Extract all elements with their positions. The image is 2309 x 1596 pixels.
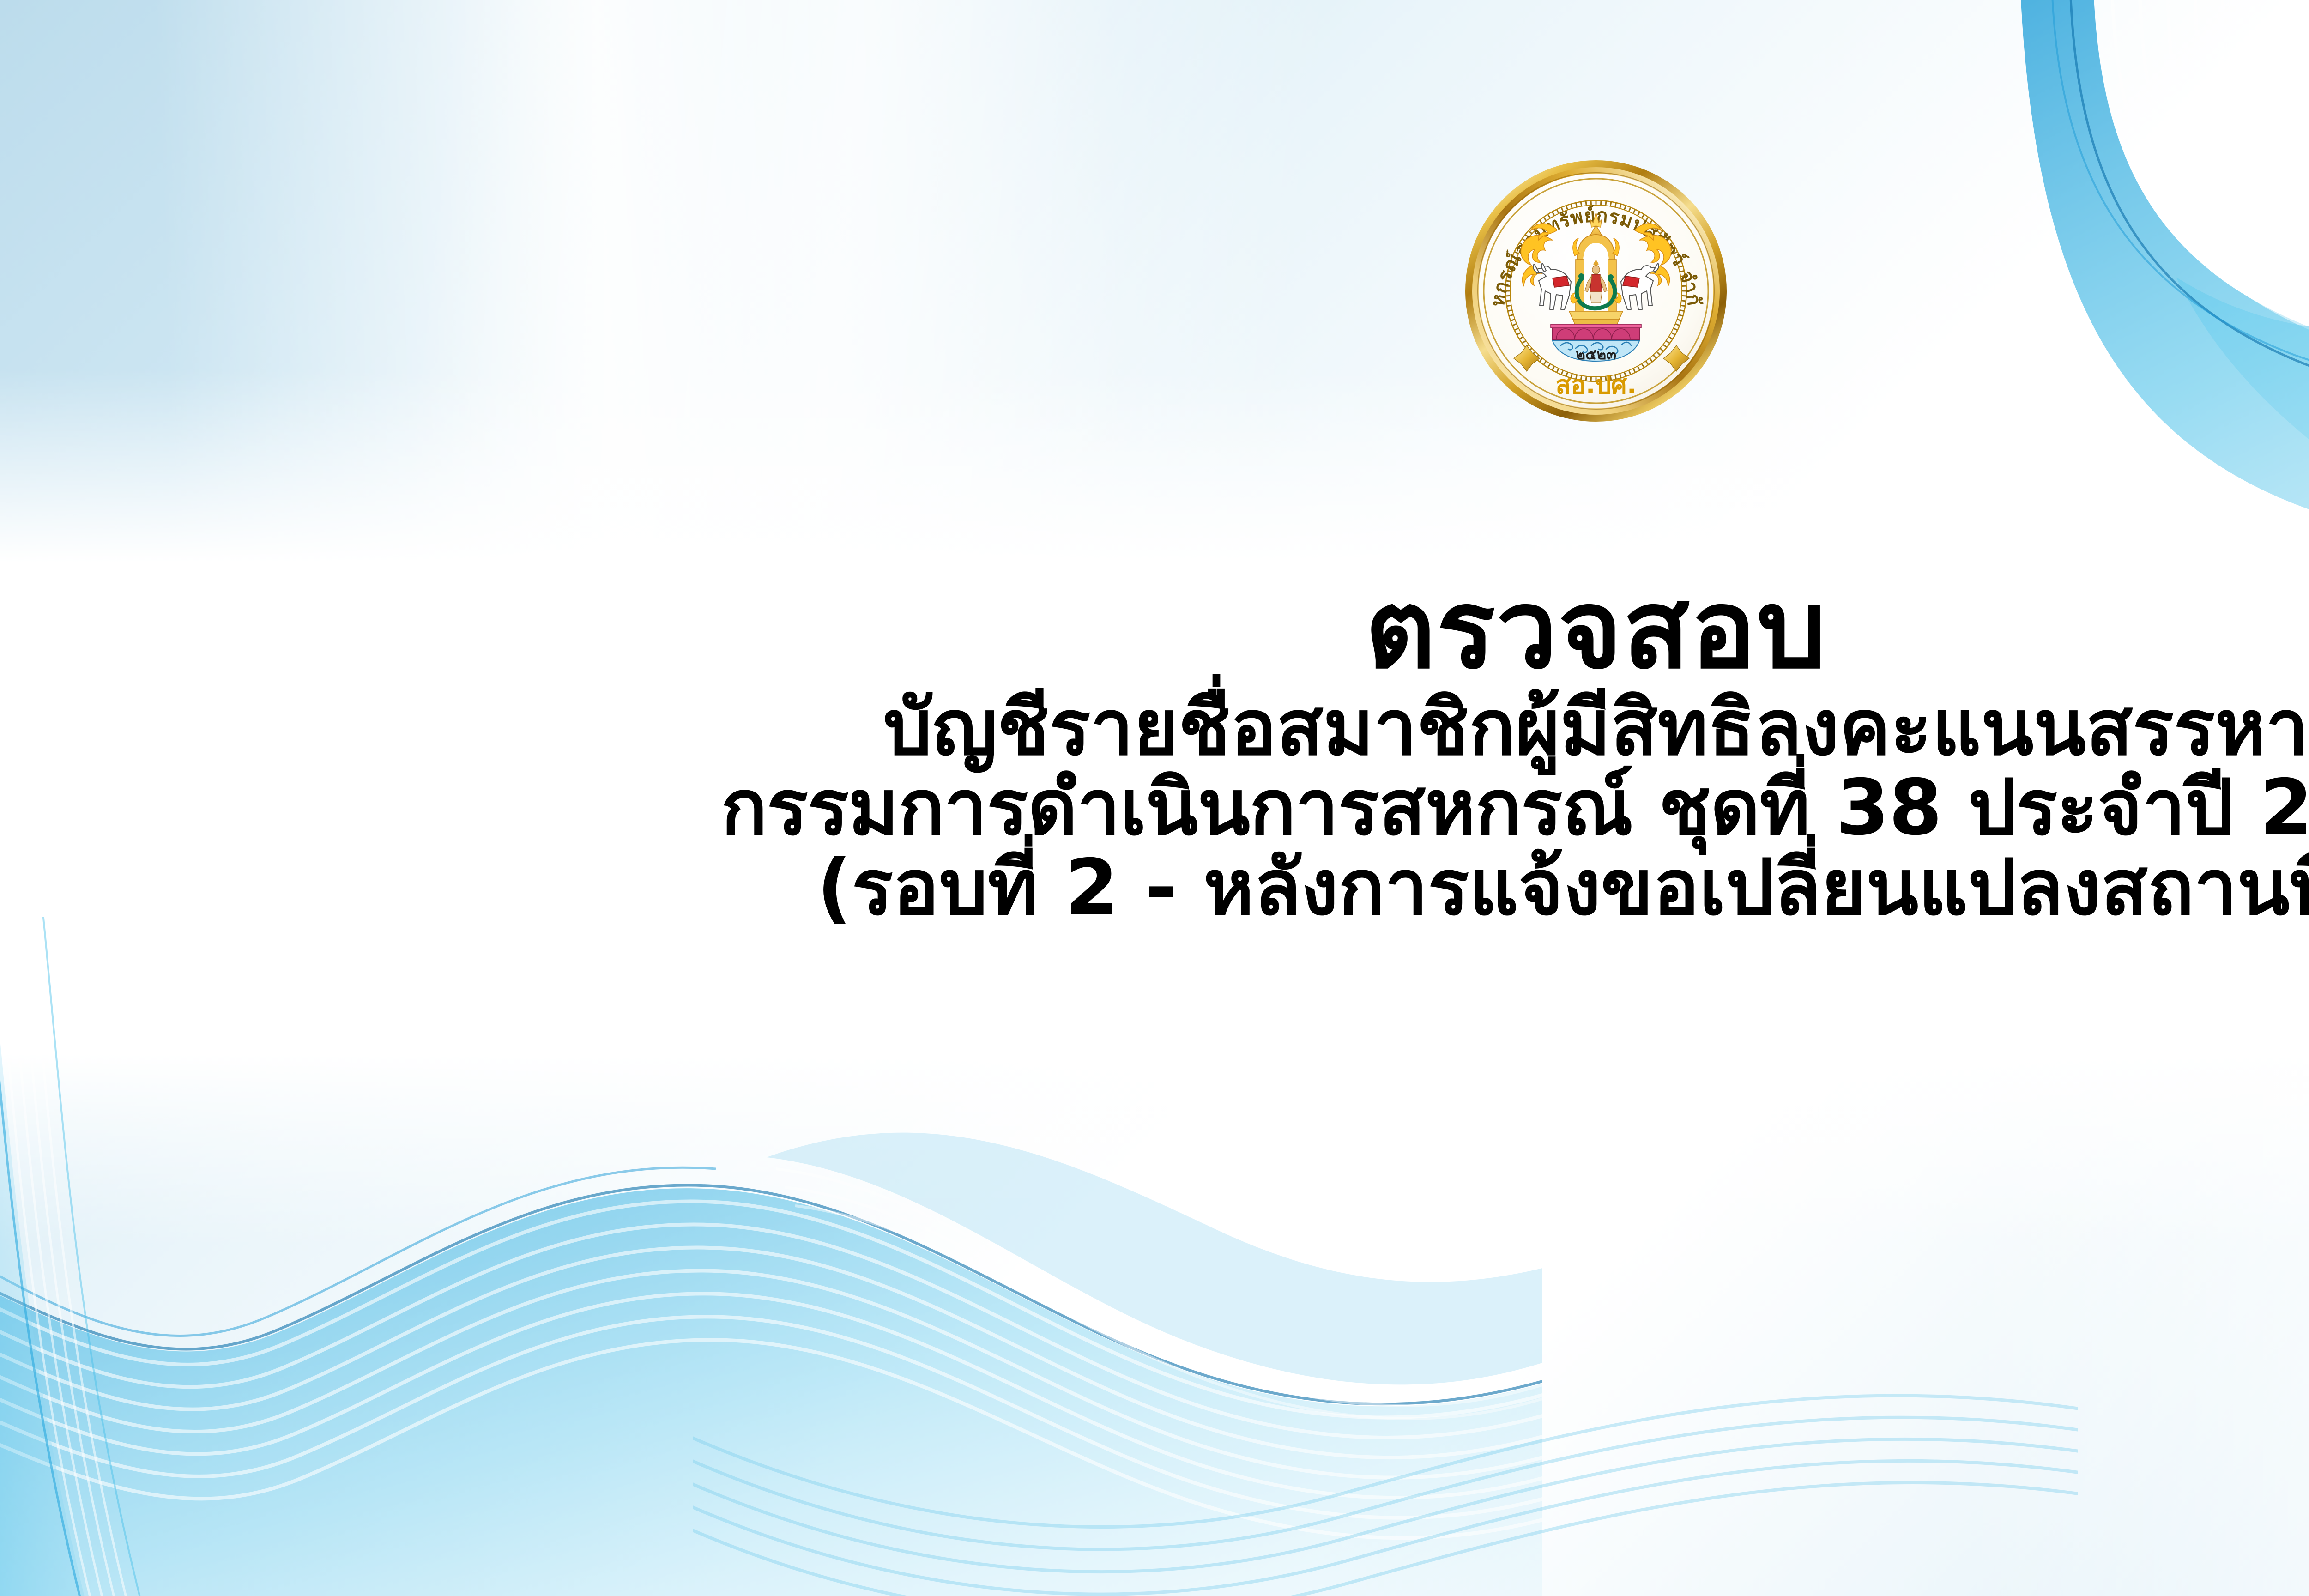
- headline-line-3: กรรมการดำเนินการสหกรณ์ ชุดที่ 38 ประจำปี…: [0, 768, 2309, 848]
- headline-line-1: ตรวจสอบ: [0, 573, 2309, 686]
- base-band: [1551, 324, 1641, 340]
- wave-ribbon-bottom-left: [0, 917, 1542, 1596]
- headline-block: ตรวจสอบ บัญชีรายชื่อสมาชิกผู้มีสิทธิลงคะ…: [0, 573, 2309, 928]
- wave-ribbon-bottom-center: [693, 1171, 2078, 1596]
- seal-abbreviation: สอ.ปศ.: [1556, 370, 1637, 399]
- seal-year-text: ๒๕๒๓: [1576, 345, 1616, 363]
- cooperative-seal-logo: สหกรณ์ออมทรัพย์กรมปศุสัตว์ จำกัด: [1462, 157, 1730, 425]
- announcement-banner: สหกรณ์ออมทรัพย์กรมปศุสัตว์ จำกัด: [0, 0, 2309, 1596]
- cooperative-seal-svg: สหกรณ์ออมทรัพย์กรมปศุสัตว์ จำกัด: [1462, 157, 1730, 425]
- headline-line-2: บัญชีรายชื่อสมาชิกผู้มีสิทธิลงคะแนนสรรหา: [0, 689, 2309, 768]
- headline-line-4: (รอบที่ 2 - หลังการแจ้งขอเปลี่ยนแปลงสถาน…: [0, 848, 2309, 928]
